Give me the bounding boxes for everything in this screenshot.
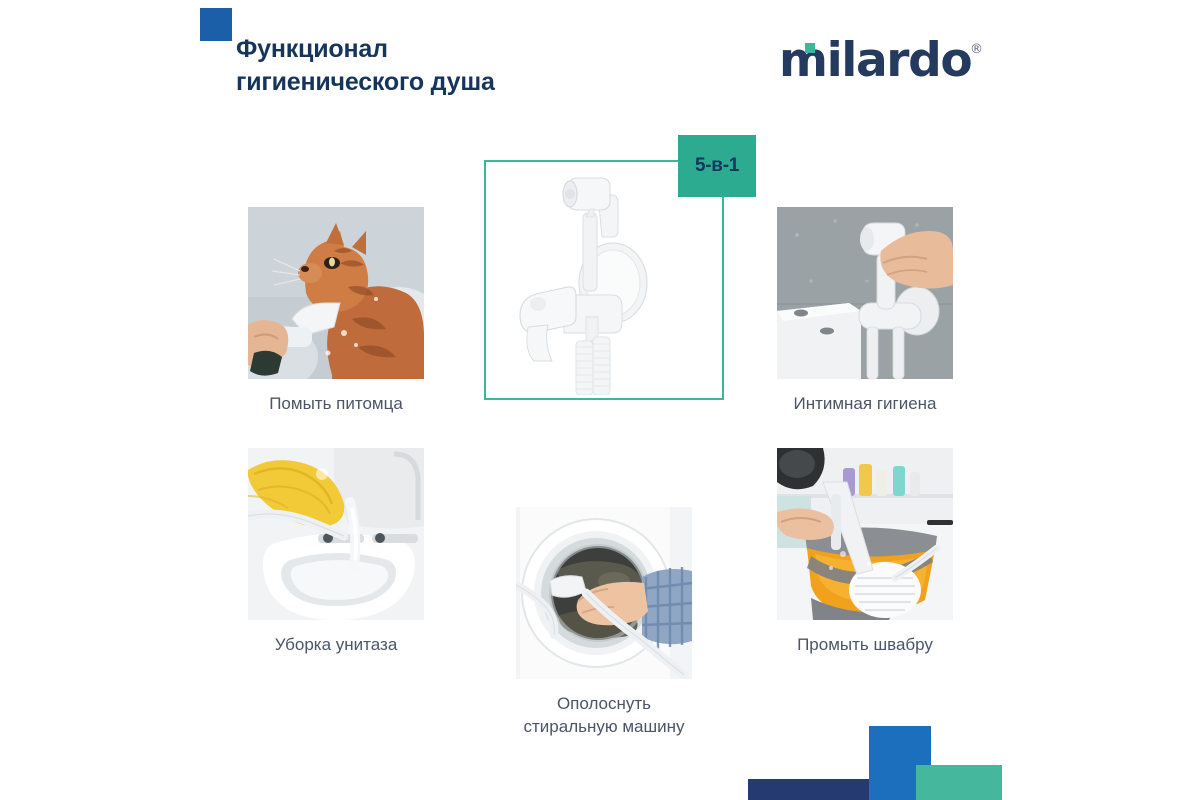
accent-square-decoration (200, 8, 232, 41)
brand-logo: milardo ® (779, 38, 971, 84)
hero-product-image (494, 165, 709, 395)
feature-card-mop: Промыть швабру (777, 448, 953, 656)
feature-card-washer: Ополоснуть стиральную машину (516, 507, 692, 738)
feature-caption-mop: Промыть швабру (777, 633, 953, 656)
page-title: Функционал гигиенического душа (236, 33, 666, 99)
infographic-poster: Функционал гигиенического душа milardo ® (0, 0, 1200, 800)
feature-caption-washer-line-2: стиральную машину (524, 717, 685, 736)
feature-card-toilet: Уборка унитаза (248, 448, 424, 656)
feature-caption-toilet: Уборка унитаза (248, 633, 424, 656)
feature-image-mop (777, 448, 953, 620)
page-title-line-1: Функционал (236, 33, 666, 66)
feature-card-pet: Помыть питомца (248, 207, 424, 415)
brand-name: milardo (779, 33, 971, 88)
badge-5-in-1: 5-в-1 (678, 135, 756, 197)
feature-caption-washer-line-1: Ополоснуть (557, 694, 651, 713)
feature-image-intimate (777, 207, 953, 379)
decoration-navy-bar (748, 779, 886, 800)
feature-caption-pet: Помыть питомца (248, 392, 424, 415)
brand-i-dot-icon (805, 43, 815, 53)
page-title-line-2: гигиенического душа (236, 66, 666, 99)
registered-trademark-icon: ® (970, 42, 983, 57)
feature-image-pet (248, 207, 424, 379)
feature-image-washer (516, 507, 692, 679)
feature-caption-intimate: Интимная гигиена (777, 392, 953, 415)
feature-card-intimate: Интимная гигиена (777, 207, 953, 415)
feature-image-toilet (248, 448, 424, 620)
feature-caption-washer: Ополоснуть стиральную машину (516, 692, 692, 738)
decoration-teal-block (916, 765, 1002, 800)
